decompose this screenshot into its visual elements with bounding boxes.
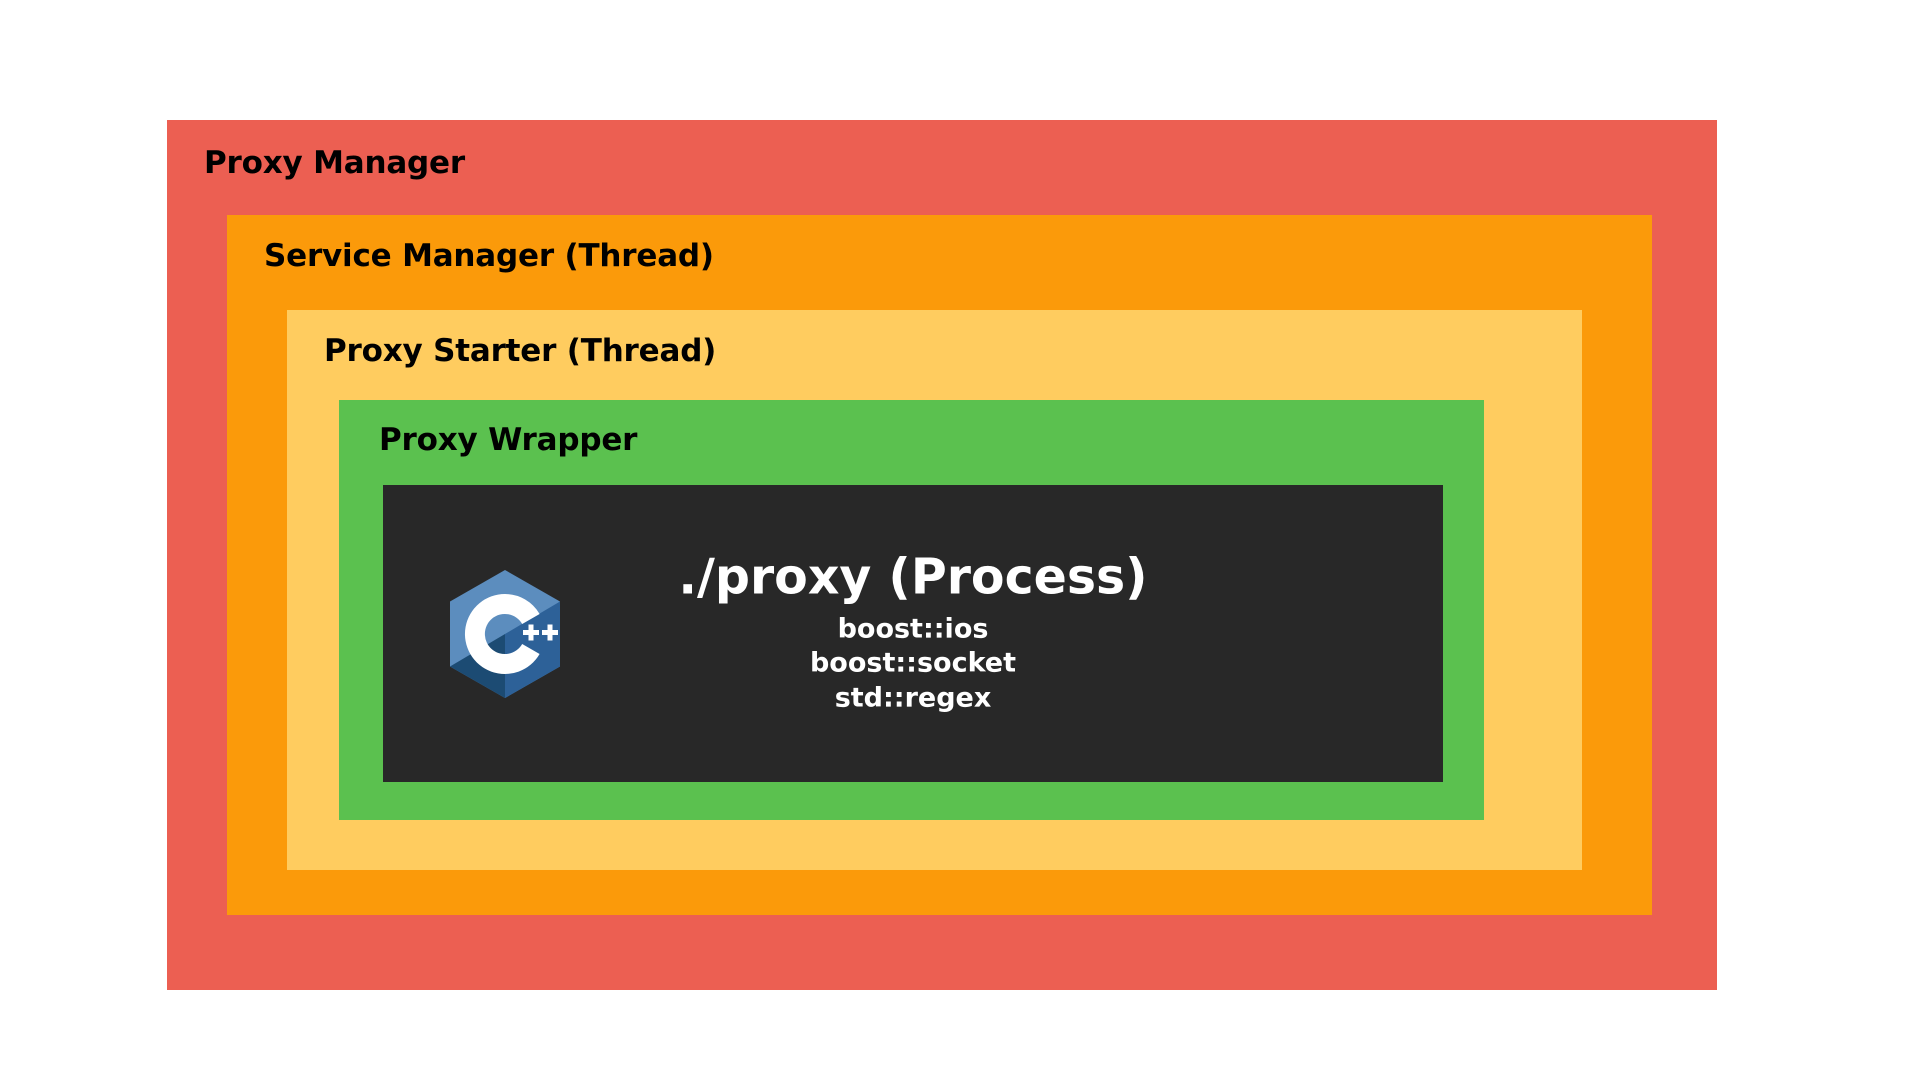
layer-proxy-wrapper: Proxy Wrapper xyxy=(339,400,1484,820)
process-library-item: std::regex xyxy=(598,681,1228,716)
process-library-item: boost::socket xyxy=(598,647,1228,682)
layer-service-manager: Service Manager (Thread) Proxy Starter (… xyxy=(227,215,1652,915)
layer-proxy-manager: Proxy Manager Service Manager (Thread) P… xyxy=(167,120,1717,990)
process-library-item: boost::ios xyxy=(598,612,1228,647)
layer-label-proxy-wrapper: Proxy Wrapper xyxy=(379,422,637,458)
process-panel: ./proxy (Process) boost::ios boost::sock… xyxy=(383,485,1443,782)
layer-label-service-manager: Service Manager (Thread) xyxy=(264,238,714,274)
diagram-canvas: Proxy Manager Service Manager (Thread) P… xyxy=(0,0,1920,1080)
layer-label-proxy-starter: Proxy Starter (Thread) xyxy=(324,333,716,369)
process-text-block: ./proxy (Process) boost::ios boost::sock… xyxy=(383,551,1443,716)
layer-label-proxy-manager: Proxy Manager xyxy=(204,145,465,181)
process-title: ./proxy (Process) xyxy=(598,551,1228,602)
layer-proxy-starter: Proxy Starter (Thread) Proxy Wrapper xyxy=(287,310,1582,870)
